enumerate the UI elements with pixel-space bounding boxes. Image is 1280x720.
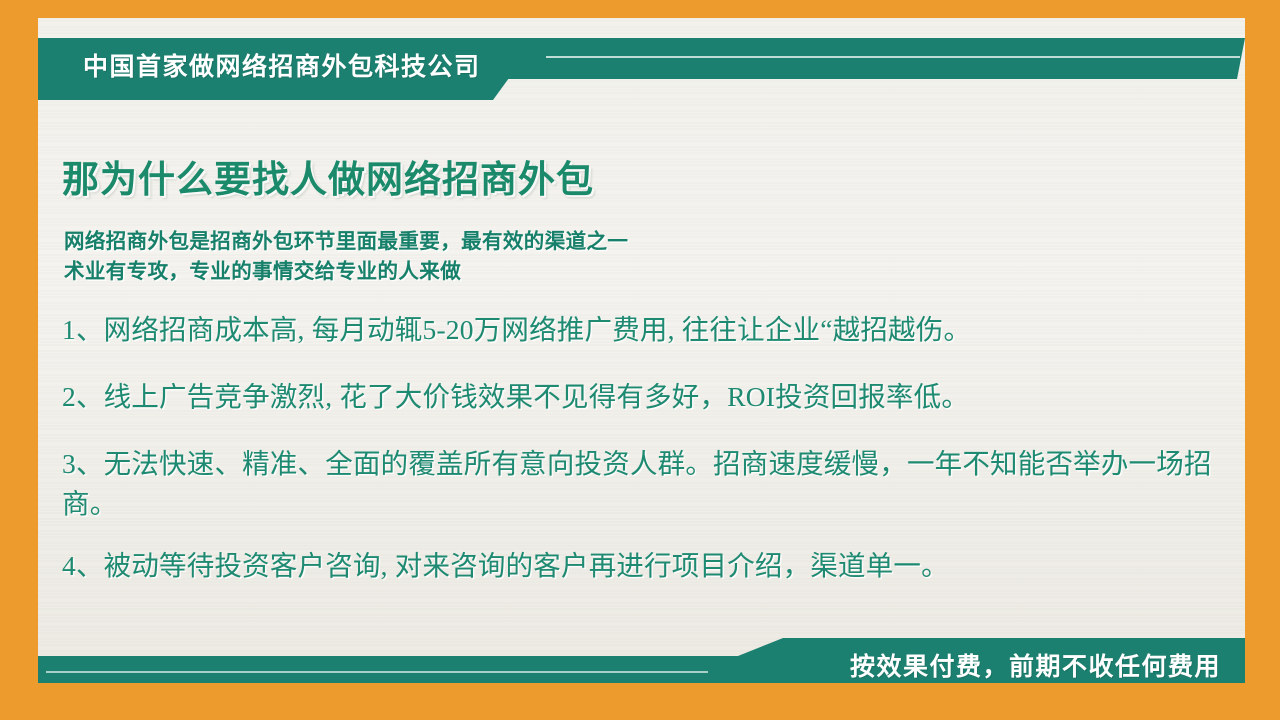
slide-page: 中国首家做网络招商外包科技公司 那为什么要找人做网络招商外包 网络招商外包是招商… — [38, 18, 1245, 683]
footer-banner-text: 按效果付费，前期不收任何费用 — [850, 647, 1221, 683]
list-item: 2、线上广告竞争激烈, 花了大价钱效果不见得有多好，ROI投资回报率低。 — [62, 377, 1222, 417]
header-hairline-divider — [546, 56, 1240, 58]
page-title: 那为什么要找人做网络招商外包 — [62, 149, 594, 203]
subtitle-line-2: 术业有专攻，专业的事情交给专业的人来做 — [64, 257, 628, 287]
subtitle-line-1: 网络招商外包是招商外包环节里面最重要，最有效的渠道之一 — [64, 227, 628, 257]
reason-list: 1、网络招商成本高, 每月动辄5-20万网络推广费用, 往往让企业“越招越伤。 … — [62, 310, 1222, 613]
list-item: 4、被动等待投资客户咨询, 对来咨询的客户再进行项目介绍，渠道单一。 — [62, 546, 1222, 586]
slide-canvas: 中国首家做网络招商外包科技公司 那为什么要找人做网络招商外包 网络招商外包是招商… — [0, 0, 1280, 720]
list-item: 3、无法快速、精准、全面的覆盖所有意向投资人群。招商速度缓慢，一年不知能否举办一… — [62, 444, 1222, 524]
list-item: 1、网络招商成本高, 每月动辄5-20万网络推广费用, 往往让企业“越招越伤。 — [62, 310, 1222, 350]
header-banner-text: 中国首家做网络招商外包科技公司 — [83, 47, 481, 83]
subtitle-group: 网络招商外包是招商外包环节里面最重要，最有效的渠道之一 术业有专攻，专业的事情交… — [64, 227, 628, 287]
footer-hairline-divider — [46, 671, 708, 673]
